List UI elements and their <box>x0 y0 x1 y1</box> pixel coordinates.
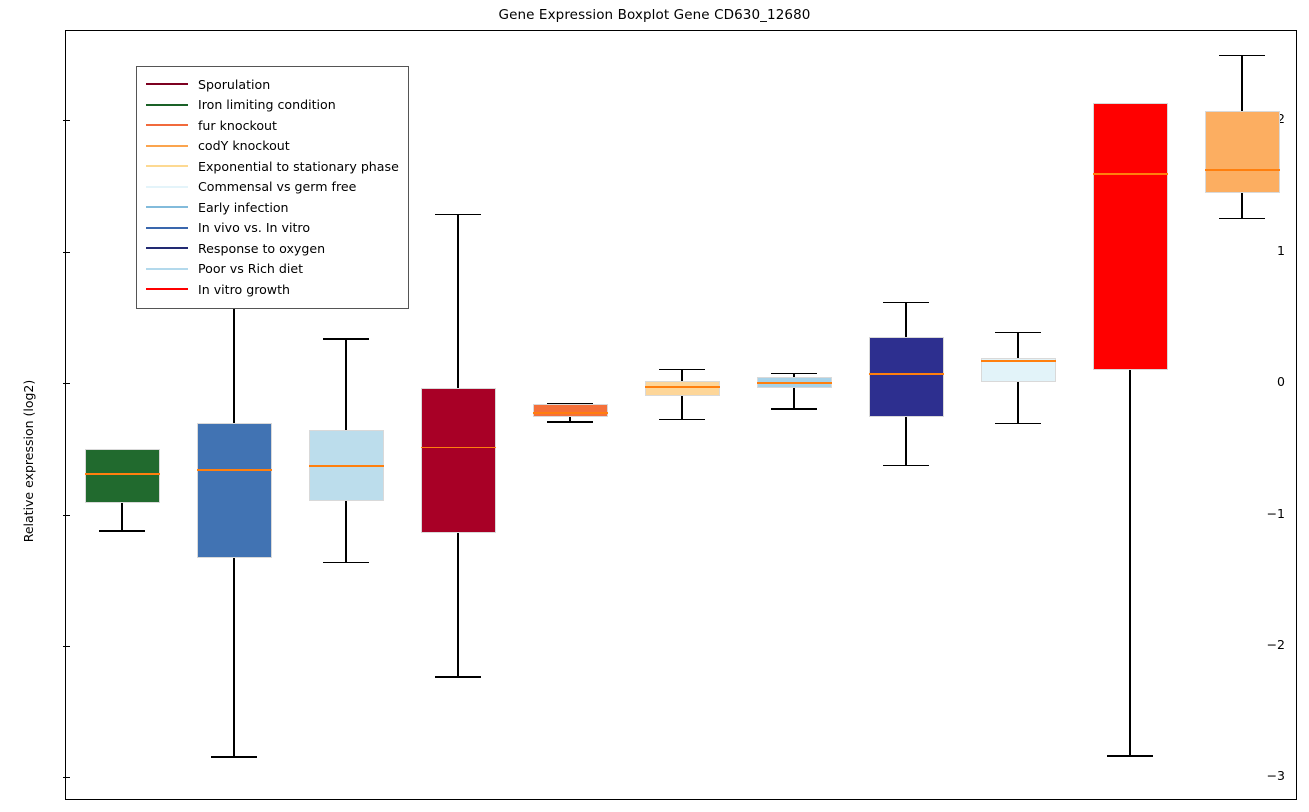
legend-item-label: Iron limiting condition <box>198 97 336 112</box>
median-line <box>1093 173 1168 175</box>
legend-item[interactable]: codY knockout <box>146 136 399 157</box>
whisker-cap-lower <box>659 419 706 421</box>
median-line <box>85 473 160 475</box>
whisker-cap-lower <box>211 756 258 758</box>
whisker-lower <box>1017 382 1018 423</box>
y-tick-mark <box>63 777 70 778</box>
whisker-lower <box>1129 370 1130 755</box>
whisker-cap-lower <box>435 676 482 678</box>
whisker-cap-lower <box>547 421 594 423</box>
boxplot-box <box>1205 31 1280 799</box>
box-rectangle <box>869 337 944 417</box>
whisker-cap-upper <box>883 302 930 304</box>
whisker-cap-upper <box>995 332 1042 334</box>
box-rectangle <box>1093 103 1168 370</box>
whisker-cap-lower <box>323 562 370 564</box>
median-line <box>981 360 1056 362</box>
legend-item[interactable]: In vivo vs. In vitro <box>146 218 399 239</box>
legend-color-swatch <box>146 186 188 188</box>
box-rectangle <box>85 449 160 503</box>
y-axis-label: Relative expression (log2) <box>21 311 36 611</box>
boxplot-box <box>533 31 608 799</box>
whisker-cap-lower <box>883 465 930 467</box>
legend-item-label: In vivo vs. In vitro <box>198 220 310 235</box>
box-rectangle <box>533 404 608 417</box>
legend-item-label: Sporulation <box>198 77 270 92</box>
median-line <box>757 382 832 384</box>
boxplot-box <box>981 31 1056 799</box>
median-line <box>1205 169 1280 171</box>
whisker-lower <box>681 396 682 418</box>
y-tick-mark <box>63 120 70 121</box>
boxplot-box <box>645 31 720 799</box>
legend-color-swatch <box>146 124 188 126</box>
y-tick-mark <box>63 252 70 253</box>
legend-item-label: Poor vs Rich diet <box>198 261 303 276</box>
legend-item-label: fur knockout <box>198 118 277 133</box>
whisker-lower <box>905 417 906 464</box>
boxplot-box <box>421 31 496 799</box>
legend-color-swatch <box>146 83 188 85</box>
whisker-upper <box>681 369 682 381</box>
whisker-lower <box>793 388 794 408</box>
whisker-cap-lower <box>1107 755 1154 757</box>
whisker-cap-upper <box>323 338 370 340</box>
legend-item-label: Response to oxygen <box>198 241 325 256</box>
whisker-cap-upper <box>1219 55 1266 57</box>
whisker-upper <box>1241 55 1242 112</box>
box-rectangle <box>1205 111 1280 192</box>
page-title: Gene Expression Boxplot Gene CD630_12680 <box>0 7 1309 23</box>
y-tick-mark <box>63 646 70 647</box>
box-rectangle <box>645 381 720 397</box>
legend-item-label: Commensal vs germ free <box>198 179 356 194</box>
legend-color-swatch <box>146 268 188 270</box>
whisker-cap-lower <box>995 423 1042 425</box>
whisker-cap-lower <box>99 530 146 532</box>
boxplot-box <box>1093 31 1168 799</box>
boxplot-box <box>869 31 944 799</box>
whisker-cap-upper <box>659 369 706 371</box>
legend-item-label: Exponential to stationary phase <box>198 159 399 174</box>
legend-item[interactable]: Commensal vs germ free <box>146 177 399 198</box>
legend-item[interactable]: Exponential to stationary phase <box>146 156 399 177</box>
legend-color-swatch <box>146 104 188 106</box>
whisker-lower <box>457 533 458 676</box>
y-tick-mark <box>63 515 70 516</box>
whisker-cap-lower <box>1219 218 1266 220</box>
median-line <box>645 386 720 388</box>
whisker-upper <box>457 214 458 389</box>
legend-item-label: In vitro growth <box>198 282 290 297</box>
legend-item[interactable]: Poor vs Rich diet <box>146 259 399 280</box>
legend-item-label: codY knockout <box>198 138 290 153</box>
whisker-cap-upper <box>771 373 818 375</box>
legend-color-swatch <box>146 206 188 208</box>
box-rectangle <box>421 388 496 533</box>
whisker-lower <box>345 501 346 561</box>
figure-canvas: Gene Expression Boxplot Gene CD630_12680… <box>0 0 1309 812</box>
legend-item[interactable]: Sporulation <box>146 74 399 95</box>
boxplot-box <box>757 31 832 799</box>
legend-color-swatch <box>146 288 188 290</box>
median-line <box>533 412 608 414</box>
legend-color-swatch <box>146 227 188 229</box>
whisker-cap-lower <box>771 408 818 410</box>
whisker-upper <box>1017 332 1018 358</box>
legend: SporulationIron limiting conditionfur kn… <box>136 66 409 309</box>
median-line <box>197 469 272 471</box>
median-line <box>421 447 496 449</box>
legend-item[interactable]: Response to oxygen <box>146 238 399 259</box>
median-line <box>869 373 944 375</box>
box-rectangle <box>197 423 272 558</box>
y-tick-mark <box>63 383 70 384</box>
legend-color-swatch <box>146 247 188 249</box>
legend-item[interactable]: Early infection <box>146 197 399 218</box>
whisker-upper <box>905 302 906 337</box>
whisker-lower <box>233 558 234 756</box>
legend-item-label: Early infection <box>198 200 289 215</box>
median-line <box>309 465 384 467</box>
legend-item[interactable]: Iron limiting condition <box>146 95 399 116</box>
plot-area: Relative expression (log2) −3−2−1012 Spo… <box>65 30 1297 800</box>
box-rectangle <box>981 358 1056 382</box>
whisker-upper <box>345 338 346 430</box>
whisker-lower <box>1241 193 1242 218</box>
legend-color-swatch <box>146 145 188 147</box>
legend-color-swatch <box>146 165 188 167</box>
legend-item[interactable]: In vitro growth <box>146 279 399 300</box>
whisker-cap-upper <box>435 214 482 216</box>
whisker-lower <box>121 503 122 531</box>
legend-item[interactable]: fur knockout <box>146 115 399 136</box>
